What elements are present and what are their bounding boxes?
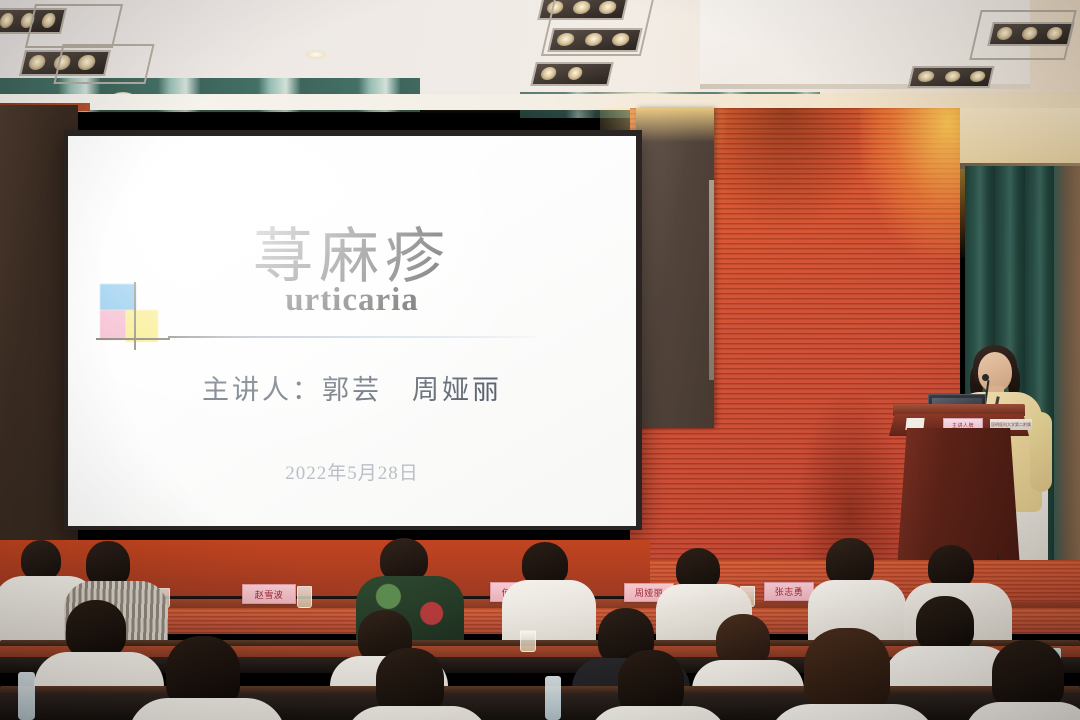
conference-hall-photo: 荨麻疹 urticaria 主讲人：郭芸 周娅丽 2022年5月28日 主讲人牌… <box>0 0 1080 720</box>
microphone-icon <box>982 374 989 381</box>
deco-block-blue <box>100 284 136 310</box>
ceiling-light-frame <box>541 0 655 56</box>
water-glass <box>520 630 536 652</box>
four-square-color-block-icon <box>96 282 170 348</box>
pillar-top-glow <box>636 108 714 142</box>
person-hair <box>992 640 1064 710</box>
ceiling-light-frame <box>969 10 1077 60</box>
pillar-metal-strip <box>709 180 714 380</box>
person-hair <box>826 538 874 586</box>
deco-block-pink <box>100 310 126 340</box>
person-hair <box>66 600 126 658</box>
person-hair <box>376 648 444 714</box>
ceiling-downlight <box>305 50 327 59</box>
water-glass <box>297 586 312 608</box>
person-hair <box>618 650 684 714</box>
wall-light-glow <box>860 108 970 258</box>
person-hair <box>916 596 974 652</box>
deco-horizontal-line <box>96 338 170 340</box>
person-hair <box>804 628 890 712</box>
slide-date: 2022年5月28日 <box>68 458 636 485</box>
person-hair <box>716 614 770 666</box>
ceiling-light-frame <box>53 44 154 84</box>
ceiling-light-frame <box>25 4 123 48</box>
speaker-arm <box>1030 412 1052 492</box>
slide-divider-rule <box>168 336 536 338</box>
wall-right-upper-panel <box>960 108 1080 168</box>
person-body <box>502 580 596 646</box>
person-hair <box>21 540 61 580</box>
water-bottle <box>545 676 561 720</box>
projection-screen: 荨麻疹 urticaria 主讲人：郭芸 周娅丽 2022年5月28日 <box>68 136 636 526</box>
ceiling-light-panel <box>530 62 614 86</box>
ceiling-light-panel <box>907 66 994 88</box>
nameplate: 张志勇 <box>764 582 814 601</box>
water-bottle <box>18 672 35 720</box>
person-body <box>128 698 286 720</box>
curtain-edge <box>1054 166 1080 566</box>
nameplate: 赵雪波 <box>242 584 296 604</box>
wall-dark-pillar <box>636 108 714 428</box>
slide-presenter-line: 主讲人：郭芸 周娅丽 <box>68 368 636 407</box>
